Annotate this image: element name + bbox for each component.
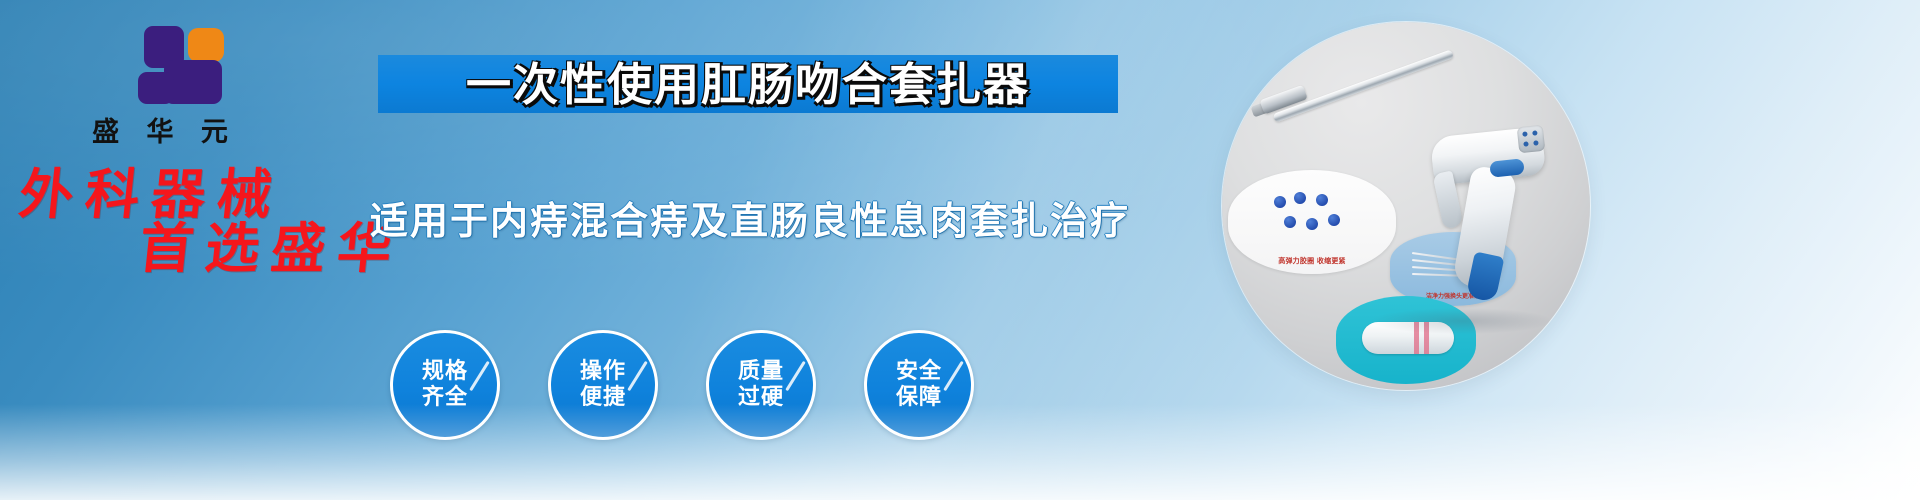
feature-badge-1-line1: 规格 <box>422 359 468 385</box>
dial-dot <box>1522 131 1527 136</box>
feature-badge-3-line1: 质量 <box>738 359 784 385</box>
product-photo: 高弹力胶圈 收缩更紧 洁净力强换头更准确 <box>1222 22 1590 390</box>
dial-dot <box>1523 141 1528 146</box>
ligator-device-photo-icon <box>1222 22 1590 390</box>
feature-badge-3[interactable]: 质量 过硬 <box>706 330 816 440</box>
feature-badge-1[interactable]: 规格 齐全 <box>390 330 500 440</box>
dial-dot <box>1533 140 1538 145</box>
feature-badge-4-line2: 保障 <box>896 385 942 411</box>
feature-badge-1-line2: 齐全 <box>422 385 468 411</box>
feature-badge-2-line1: 操作 <box>580 359 626 385</box>
feature-badge-2[interactable]: 操作 便捷 <box>548 330 658 440</box>
logo-block-orange <box>188 28 224 62</box>
device-shadow <box>1372 308 1552 334</box>
brand-logo[interactable]: 盛 华 元 <box>70 26 250 149</box>
badge-slash-icon <box>469 361 490 391</box>
logo-block-bottom-left <box>138 72 174 104</box>
subtitle: 适用于内痔混合痔及直肠良性息肉套扎治疗 <box>360 190 1140 245</box>
feature-badge-4[interactable]: 安全 保障 <box>864 330 974 440</box>
badge-slash-icon <box>785 361 806 391</box>
brand-name: 盛 华 元 <box>70 110 250 149</box>
feature-badge-4-line1: 安全 <box>896 359 942 385</box>
dial-dot <box>1532 130 1537 135</box>
feature-badges: 规格 齐全 操作 便捷 质量 过硬 安全 保障 <box>390 330 974 440</box>
badge-slash-icon <box>627 361 648 391</box>
page-title: 一次性使用肛肠吻合套扎器 <box>398 52 1098 118</box>
device-dial <box>1517 125 1546 154</box>
feature-badge-3-line2: 过硬 <box>738 385 784 411</box>
shenghuayuan-blocks-logo-icon <box>112 26 208 104</box>
feature-badge-2-line2: 便捷 <box>580 385 626 411</box>
badge-slash-icon <box>943 361 964 391</box>
promo-banner: 盛 华 元 外科器械 首选盛华 一次性使用肛肠吻合套扎器 适用于内痔混合痔及直肠… <box>0 0 1920 500</box>
